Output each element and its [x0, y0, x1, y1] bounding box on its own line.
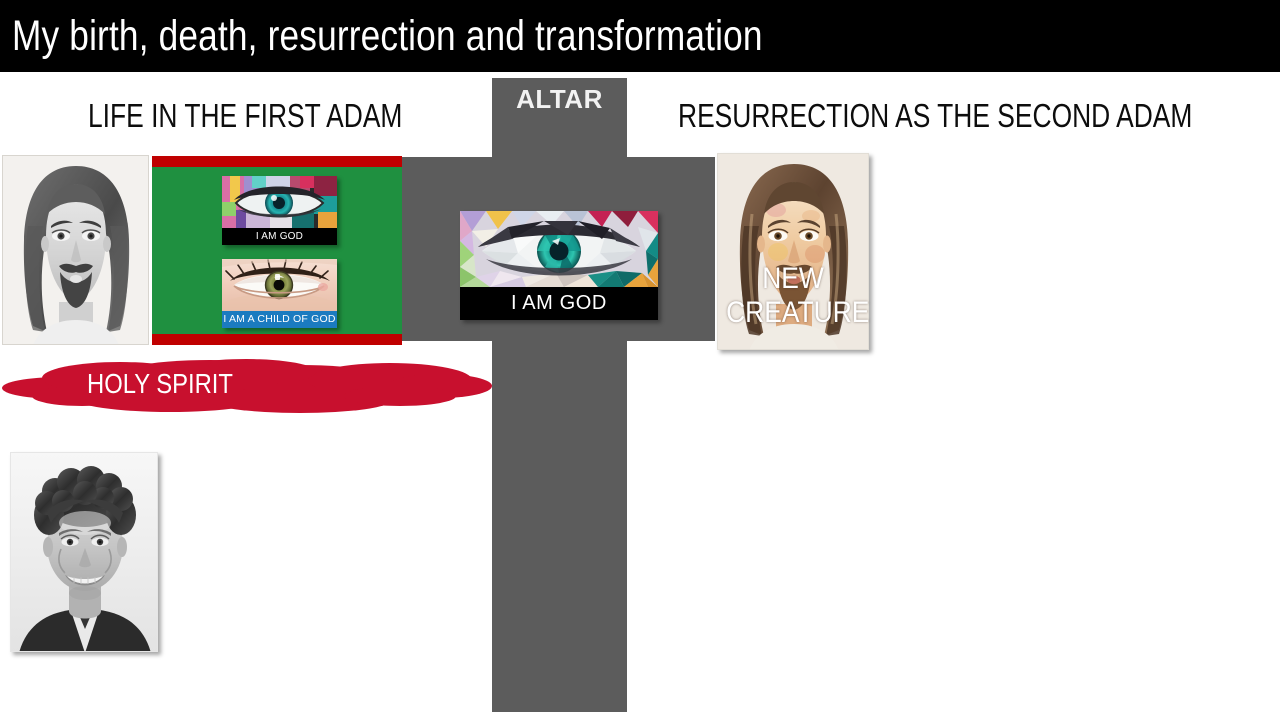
title-bar: My birth, death, resurrection and transf…	[0, 0, 1280, 72]
eye-card-i-am-god: I AM GOD	[222, 176, 337, 245]
painted-eye-icon	[222, 176, 337, 228]
altar-label: ALTAR	[492, 84, 627, 115]
eye-caption-i-am-a-child-of-god: I AM A CHILD OF GOD	[222, 311, 337, 328]
panel-accent-bar-top	[152, 156, 402, 167]
first-adam-green-panel: I AM GOD	[152, 156, 402, 345]
heading-life-in-first-adam: LIFE IN THE FIRST ADAM	[88, 96, 402, 136]
portrait-first-adam	[2, 155, 149, 345]
overlay-text-new: NEW	[726, 262, 860, 296]
man-portrait-photo	[11, 453, 158, 652]
human-eye-photo-icon	[222, 259, 337, 311]
altar-caption-i-am-god: I AM GOD	[460, 287, 658, 320]
holy-spirit-callout: HOLY SPIRIT	[0, 352, 492, 414]
low-poly-eye-icon	[460, 211, 658, 287]
panel-accent-bar-bottom	[152, 334, 402, 345]
overlay-text-creature: CREATURE	[726, 296, 860, 330]
eye-card-i-am-a-child-of-god: I AM A CHILD OF GOD	[222, 259, 337, 328]
page-title: My birth, death, resurrection and transf…	[12, 8, 763, 64]
altar-eye-card: I AM GOD	[460, 211, 658, 320]
holy-spirit-label: HOLY SPIRIT	[24, 368, 296, 400]
jesus-greyscale-illustration	[3, 156, 149, 345]
eye-caption-i-am-god: I AM GOD	[222, 228, 337, 245]
author-photo	[10, 452, 158, 652]
heading-resurrection-second-adam: RESURRECTION AS THE SECOND ADAM	[678, 96, 1192, 136]
